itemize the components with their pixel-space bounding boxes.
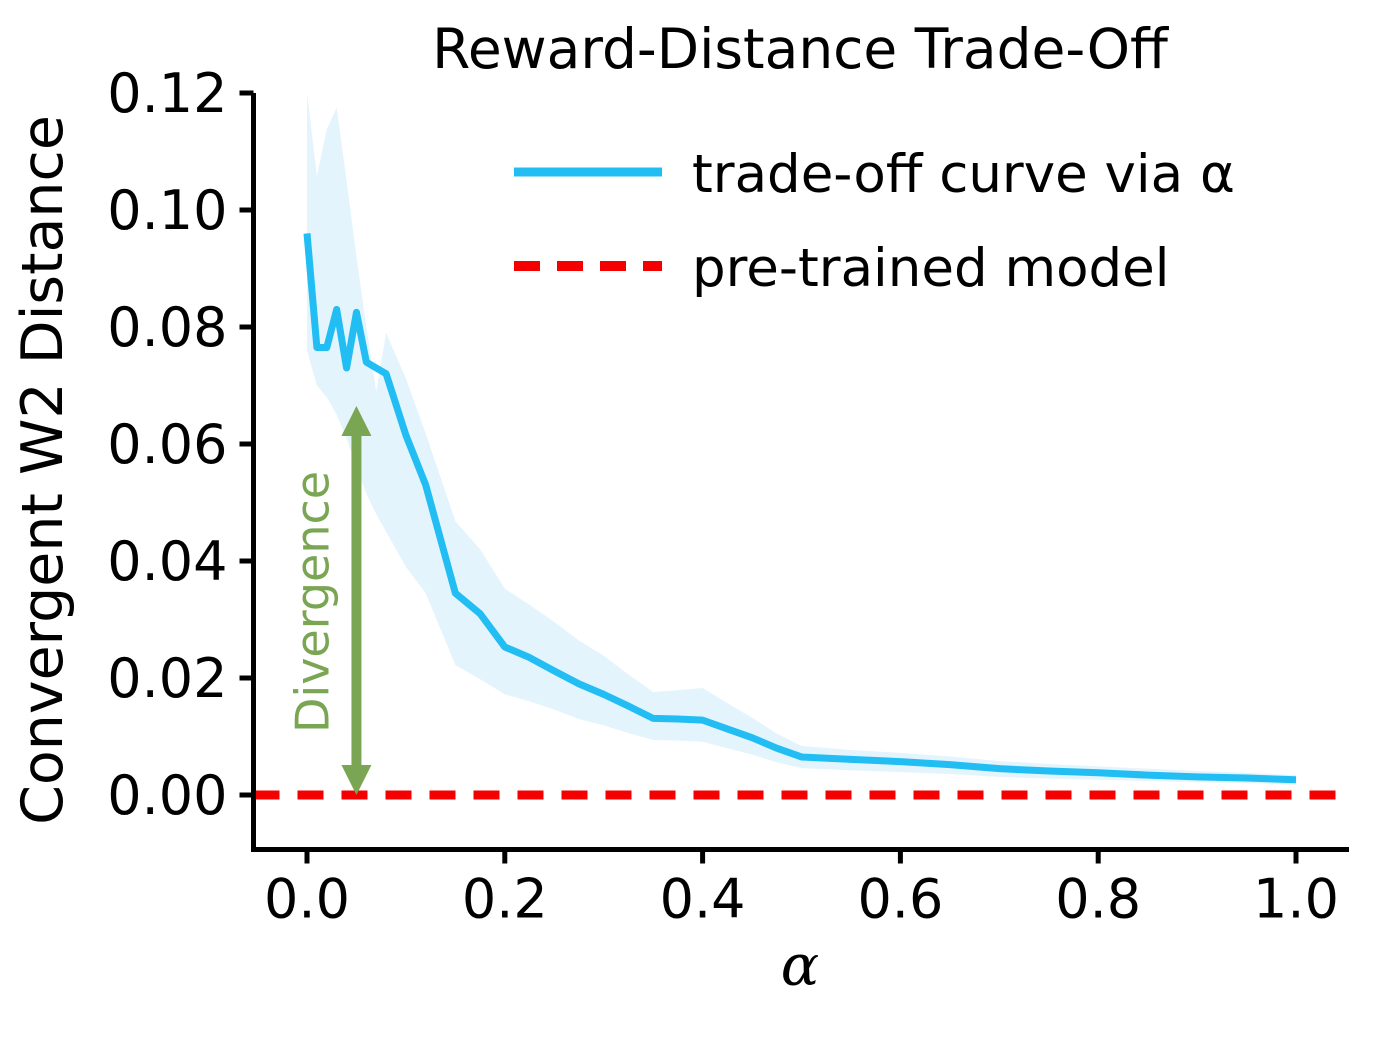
reward-distance-tradeoff-chart: 0.000.020.040.060.080.100.12 0.00.20.40.… xyxy=(0,0,1383,1037)
x-tick-label: 0.0 xyxy=(264,868,350,931)
x-tick-label: 1.0 xyxy=(1253,868,1339,931)
chart-figure: 0.000.020.040.060.080.100.12 0.00.20.40.… xyxy=(0,0,1383,1037)
y-axis-label: Convergent W2 Distance xyxy=(10,115,76,825)
divergence-annotation: Divergence xyxy=(286,406,372,795)
y-tick-label: 0.02 xyxy=(107,647,227,710)
x-axis-label: α xyxy=(781,933,820,999)
y-tick-label: 0.12 xyxy=(107,62,227,125)
legend-label-pre-trained-model: pre-trained model xyxy=(692,238,1170,299)
divergence-label: Divergence xyxy=(286,471,340,733)
y-axis-ticks: 0.000.020.040.060.080.100.12 xyxy=(107,62,253,827)
x-tick-label: 0.6 xyxy=(857,868,943,931)
trade-off-curve xyxy=(307,233,1296,779)
y-tick-label: 0.00 xyxy=(107,764,227,827)
chart-title: Reward-Distance Trade-Off xyxy=(432,17,1169,81)
y-tick-label: 0.06 xyxy=(107,413,227,476)
x-tick-label: 0.4 xyxy=(660,868,746,931)
y-tick-label: 0.08 xyxy=(107,296,227,359)
y-tick-label: 0.10 xyxy=(107,179,227,242)
legend-entry-pre-trained-model: pre-trained model xyxy=(514,238,1170,299)
x-tick-label: 0.2 xyxy=(462,868,548,931)
y-tick-label: 0.04 xyxy=(107,530,227,593)
x-axis-ticks: 0.00.20.40.60.81.0 xyxy=(264,850,1339,931)
chart-legend: trade-off curve via α pre-trained model xyxy=(514,144,1235,299)
x-tick-label: 0.8 xyxy=(1055,868,1141,931)
legend-label-trade-off-curve: trade-off curve via α xyxy=(692,144,1235,205)
legend-entry-trade-off-curve: trade-off curve via α xyxy=(514,144,1235,205)
